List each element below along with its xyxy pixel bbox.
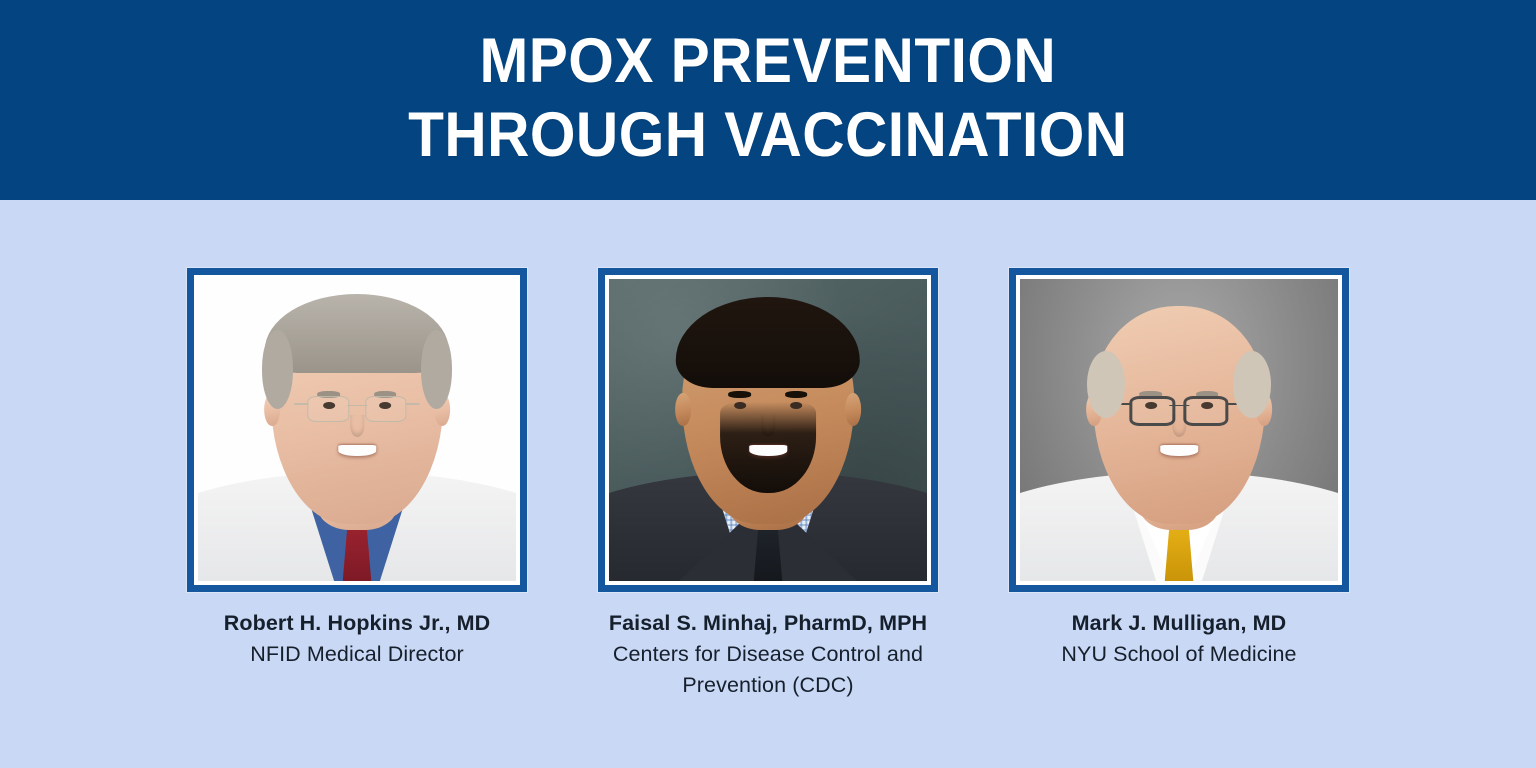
slide-root: MPOX PREVENTION THROUGH VACCINATION: [0, 0, 1536, 768]
speaker-name: Faisal S. Minhaj, PharmD, MPH: [583, 608, 953, 639]
photo-frame-mark-mulligan: [1009, 268, 1349, 592]
page-title: MPOX PREVENTION THROUGH VACCINATION: [408, 24, 1127, 172]
page-title-line-2: THROUGH VACCINATION: [408, 98, 1127, 172]
eyebrow-right: [785, 391, 807, 398]
page-title-line-1: MPOX PREVENTION: [408, 24, 1127, 98]
nose: [350, 415, 364, 437]
photo-frame-robert-hopkins: [187, 268, 527, 592]
mouth-smile: [1160, 445, 1198, 456]
portrait-faisal-minhaj: [609, 279, 927, 581]
speaker-name: Robert H. Hopkins Jr., MD: [172, 608, 542, 639]
speaker-affiliation: NFID Medical Director: [172, 639, 542, 670]
speaker-card-robert-hopkins: Robert H. Hopkins Jr., MD NFID Medical D…: [152, 200, 562, 670]
ear-right: [845, 393, 860, 426]
lens-right: [1183, 396, 1229, 426]
glasses-bridge: [347, 405, 367, 407]
glasses-bridge: [1169, 405, 1189, 407]
mouth-smile: [749, 445, 787, 456]
ear-left: [675, 393, 690, 426]
lens-left: [1129, 396, 1175, 426]
eyebrow-left: [729, 391, 751, 398]
nose: [1172, 415, 1186, 437]
speaker-affiliation: Centers for Disease Control and Preventi…: [583, 639, 953, 701]
nose: [761, 415, 775, 437]
hair-side-left: [1087, 351, 1125, 417]
lens-right: [365, 396, 407, 422]
speaker-caption-faisal-minhaj: Faisal S. Minhaj, PharmD, MPH Centers fo…: [583, 608, 953, 701]
header-banner: MPOX PREVENTION THROUGH VACCINATION: [0, 0, 1536, 200]
mouth-smile: [338, 445, 376, 456]
speaker-name: Mark J. Mulligan, MD: [994, 608, 1364, 639]
hair-side-right: [421, 330, 453, 409]
glasses-temple-right: [406, 403, 420, 404]
glasses-temple-left: [294, 403, 308, 404]
portrait-mark-mulligan: [1020, 279, 1338, 581]
speaker-card-mark-mulligan: Mark J. Mulligan, MD NYU School of Medic…: [974, 200, 1384, 670]
hair-side-left: [262, 330, 294, 409]
eye-left: [734, 402, 746, 409]
lens-left: [307, 396, 349, 422]
head: [1093, 306, 1265, 523]
portrait-robert-hopkins: [198, 279, 516, 581]
speaker-card-faisal-minhaj: Faisal S. Minhaj, PharmD, MPH Centers fo…: [563, 200, 973, 701]
photo-frame-faisal-minhaj: [598, 268, 938, 592]
speaker-list: Robert H. Hopkins Jr., MD NFID Medical D…: [0, 200, 1536, 768]
speaker-caption-robert-hopkins: Robert H. Hopkins Jr., MD NFID Medical D…: [172, 608, 542, 670]
speaker-affiliation: NYU School of Medicine: [994, 639, 1364, 670]
hair-side-right: [1233, 351, 1271, 417]
speaker-caption-mark-mulligan: Mark J. Mulligan, MD NYU School of Medic…: [994, 608, 1364, 670]
